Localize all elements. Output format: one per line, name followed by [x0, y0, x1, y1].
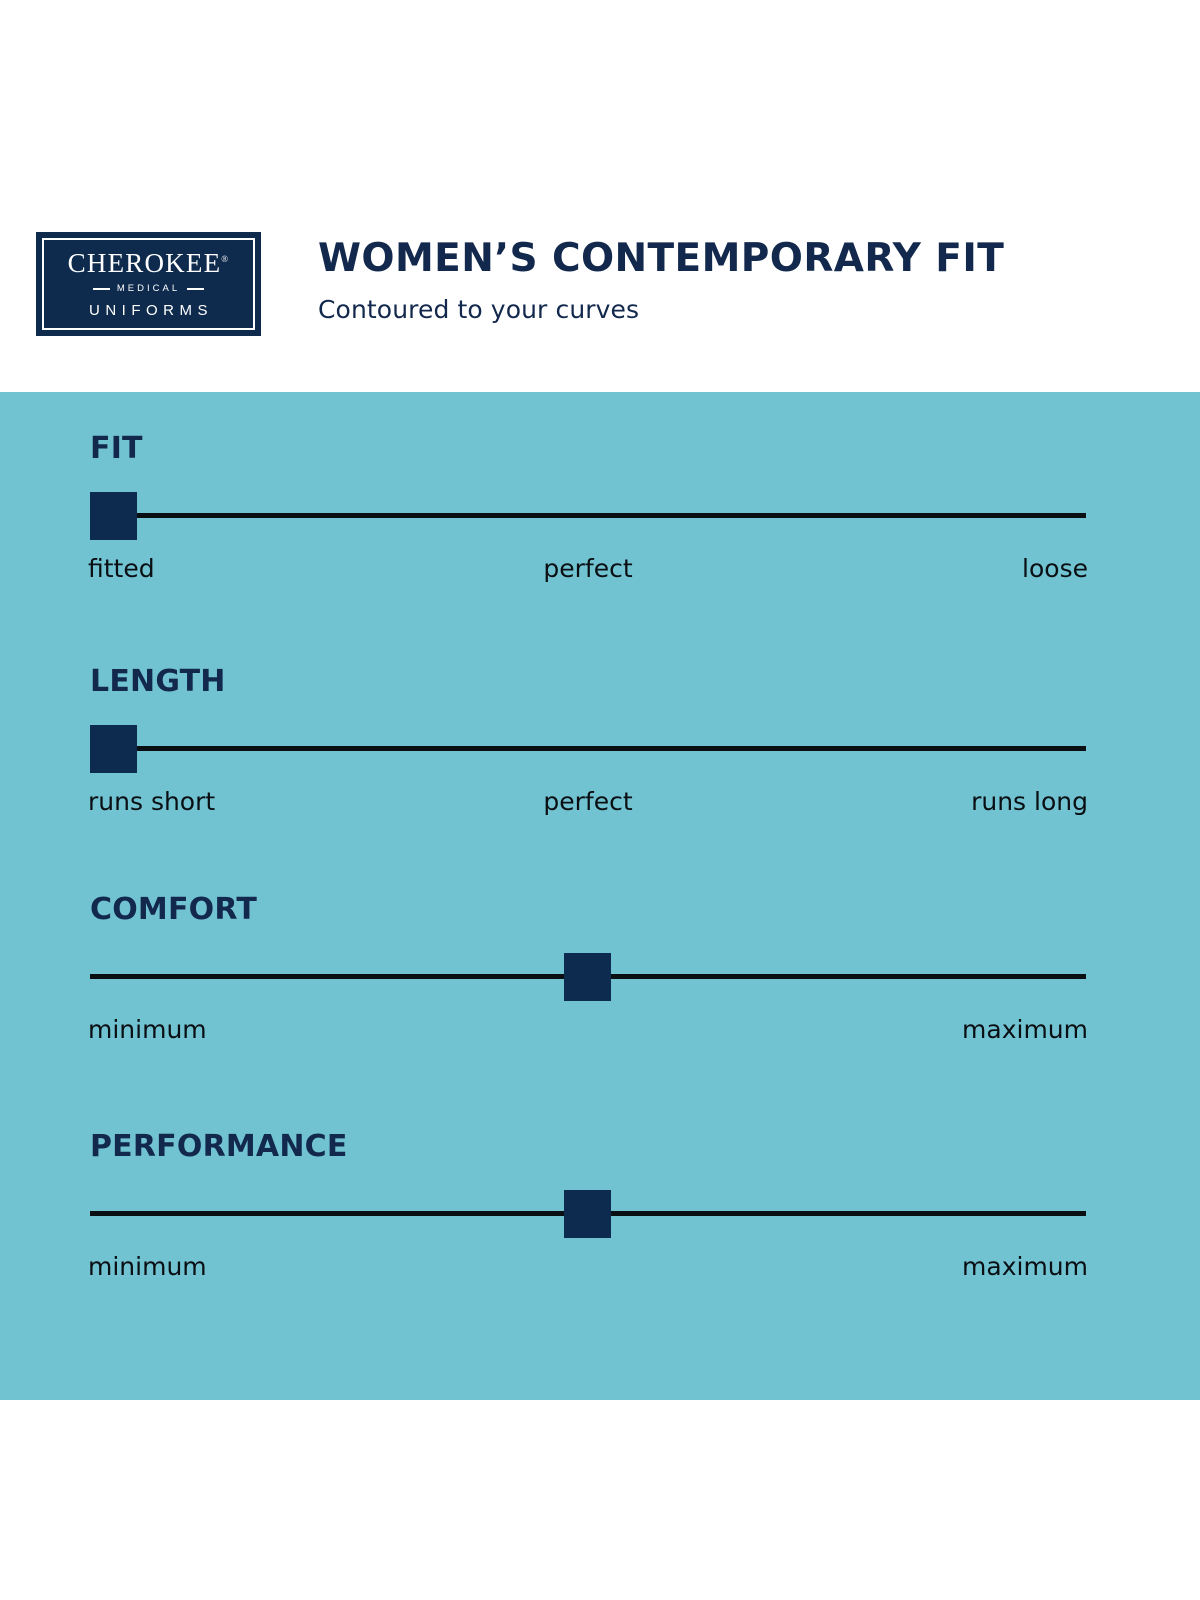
meter-fit-slider[interactable] [90, 492, 1086, 540]
logo-brand-word: CHEROKEE [68, 248, 222, 278]
meter-comfort-labels: minimum maximum [88, 1017, 1088, 1051]
header-band: CHEROKEE® MEDICAL UNIFORMS WOMEN’S CONTE… [0, 0, 1200, 392]
meter-performance-title: PERFORMANCE [90, 1132, 348, 1162]
meter-length-marker[interactable] [90, 725, 137, 773]
cherokee-logo: CHEROKEE® MEDICAL UNIFORMS [36, 232, 261, 336]
meter-fit-title: FIT [90, 434, 143, 464]
logo-medical-row: MEDICAL [93, 284, 204, 294]
meter-performance-marker[interactable] [564, 1190, 611, 1238]
meter-length-label-center: perfect [88, 789, 1088, 814]
meter-fit-marker[interactable] [90, 492, 137, 540]
meter-fit-track [90, 513, 1086, 518]
logo-brand-text: CHEROKEE® [68, 250, 230, 277]
logo-medical-text: MEDICAL [117, 284, 180, 294]
meter-performance-label-right: maximum [962, 1254, 1088, 1279]
page-title: WOMEN’S CONTEMPORARY FIT [318, 238, 1004, 280]
registered-trademark-icon: ® [221, 254, 229, 264]
meter-comfort-slider[interactable] [90, 953, 1086, 1001]
page-subtitle: Contoured to your curves [318, 296, 1004, 324]
meter-comfort-label-right: maximum [962, 1017, 1088, 1042]
meters-panel: FIT fitted perfect loose LENGTH runs sho… [0, 392, 1200, 1400]
meter-fit-labels: fitted perfect loose [88, 556, 1088, 590]
header-text-block: WOMEN’S CONTEMPORARY FIT Contoured to yo… [318, 238, 1004, 324]
meter-fit-label-center: perfect [88, 556, 1088, 581]
logo-uniforms-text: UNIFORMS [84, 303, 213, 318]
product-fit-infographic: CHEROKEE® MEDICAL UNIFORMS WOMEN’S CONTE… [0, 0, 1200, 1600]
logo-rule-right-icon [187, 288, 204, 290]
meter-comfort-title: COMFORT [90, 895, 257, 925]
meter-comfort-marker[interactable] [564, 953, 611, 1001]
meter-length-label-right: runs long [971, 789, 1088, 814]
logo-rule-left-icon [93, 288, 110, 290]
meter-performance-label-left: minimum [88, 1254, 207, 1279]
meter-length-track [90, 746, 1086, 751]
meter-length-labels: runs short perfect runs long [88, 789, 1088, 823]
meter-length-title: LENGTH [90, 667, 226, 697]
meter-comfort-label-left: minimum [88, 1017, 207, 1042]
meter-length-slider[interactable] [90, 725, 1086, 773]
meter-fit-label-right: loose [1022, 556, 1088, 581]
logo-inner-frame: CHEROKEE® MEDICAL UNIFORMS [42, 238, 255, 330]
meter-performance-labels: minimum maximum [88, 1254, 1088, 1288]
meter-performance-slider[interactable] [90, 1190, 1086, 1238]
